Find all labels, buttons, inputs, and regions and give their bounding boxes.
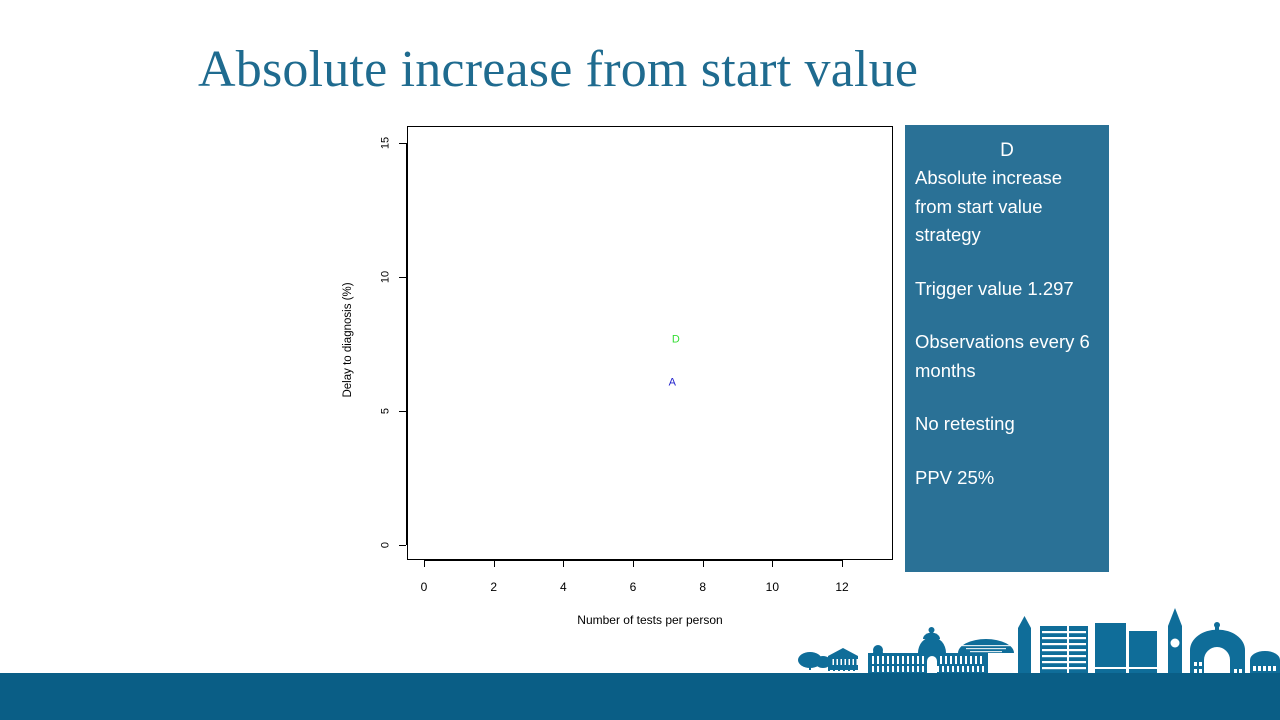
y-axis-tick: [399, 143, 406, 144]
x-axis-tick-label: 0: [421, 581, 428, 593]
info-panel-heading: D: [905, 138, 1109, 164]
info-panel-body: Absolute increase from start value strat…: [905, 164, 1109, 492]
info-panel-line: Absolute increase from start value strat…: [915, 164, 1109, 250]
x-axis-tick: [842, 560, 843, 567]
x-axis-tick-label: 6: [630, 581, 637, 593]
x-axis-tick: [424, 560, 425, 567]
y-axis-line: [406, 143, 407, 545]
strategy-info-panel: D Absolute increase from start value str…: [905, 125, 1109, 572]
x-axis-tick: [772, 560, 773, 567]
x-axis-title: Number of tests per person: [577, 614, 722, 627]
y-axis-title: Delay to diagnosis (%): [342, 282, 354, 397]
footer-band: [0, 673, 1280, 720]
x-axis-tick-label: 8: [699, 581, 706, 593]
scatter-plot: D A 051015 Delay to diagnosis (%) 024681…: [330, 118, 910, 638]
y-axis-tick-label: 5: [381, 408, 392, 414]
x-axis-tick-label: 10: [766, 581, 779, 593]
x-axis-tick-label: 4: [560, 581, 567, 593]
y-axis-tick: [399, 411, 406, 412]
info-panel-line: No retesting: [915, 410, 1109, 439]
x-axis-tick-label: 12: [835, 581, 848, 593]
data-point-label-d: D: [672, 334, 680, 345]
y-axis-tick-label: 15: [381, 137, 392, 149]
y-axis-tick: [399, 277, 406, 278]
x-axis-tick: [633, 560, 634, 567]
y-axis-tick-label: 10: [381, 271, 392, 283]
city-skyline-graphic: [790, 598, 1280, 676]
x-axis-tick-label: 2: [490, 581, 497, 593]
x-axis-tick: [563, 560, 564, 567]
y-axis-tick: [399, 545, 406, 546]
data-point-label-a: A: [669, 377, 676, 388]
page-title: Absolute increase from start value: [198, 40, 918, 100]
x-axis-tick: [703, 560, 704, 567]
info-panel-line: Observations every 6 months: [915, 328, 1109, 385]
info-panel-line: Trigger value 1.297: [915, 275, 1109, 304]
plot-panel: D A: [407, 126, 893, 560]
x-axis-tick: [494, 560, 495, 567]
info-panel-line: PPV 25%: [915, 464, 1109, 493]
y-axis-tick-label: 0: [381, 542, 392, 548]
